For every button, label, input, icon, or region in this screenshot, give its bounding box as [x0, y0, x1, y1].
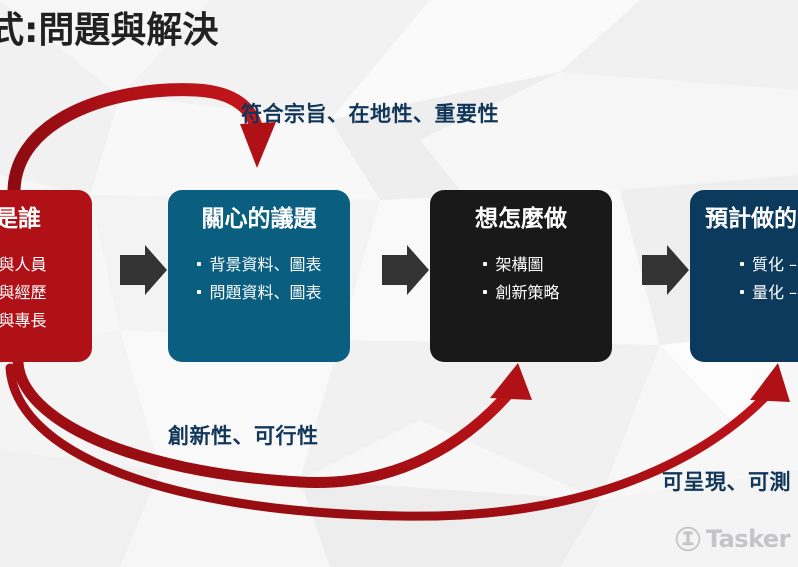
- process-box-bullets: 質化 –無 量化 –有: [739, 248, 798, 309]
- list-item: 創新策略: [482, 281, 559, 304]
- list-item: 問題資料、圖表: [196, 281, 321, 304]
- list-item: 與人員: [0, 253, 47, 276]
- process-box-outcome[interactable]: 預計做的 質化 –無 量化 –有: [690, 190, 798, 362]
- tasker-wordmark: Tasker: [706, 525, 790, 553]
- list-item: 與專長: [0, 309, 47, 332]
- chevron-1-2: [120, 245, 167, 295]
- arc-box1-to-box2: [14, 90, 276, 190]
- annotation-left: 創新性、可行性: [168, 420, 319, 450]
- slide-title: 式:問題與解決: [0, 8, 218, 53]
- process-box-title: 想怎麼做: [475, 206, 567, 234]
- chevron-3-4: [642, 245, 689, 295]
- annotation-top: 符合宗旨、在地性、重要性: [241, 98, 499, 128]
- annotation-right: 可呈現、可測: [662, 466, 791, 496]
- list-item: 與經歷: [0, 281, 47, 304]
- process-box-title: 關心的議題: [202, 206, 317, 234]
- slide-canvas: 式:問題與解決: [0, 0, 798, 567]
- tasker-logo: Tasker: [675, 525, 790, 553]
- process-box-title: 是誰: [0, 206, 41, 234]
- list-item: 背景資料、圖表: [196, 253, 321, 276]
- process-box-bullets: 背景資料、圖表 問題資料、圖表: [196, 248, 321, 309]
- list-item: 架構圖: [482, 253, 559, 276]
- list-item: 量化 –有: [739, 281, 798, 304]
- chevron-2-3: [382, 245, 429, 295]
- process-box-bullets: 架構圖 創新策略: [482, 248, 559, 309]
- process-box-method[interactable]: 想怎麼做 架構圖 創新策略: [430, 190, 612, 362]
- list-item: 質化 –無: [739, 253, 798, 276]
- process-box-topic[interactable]: 關心的議題 背景資料、圖表 問題資料、圖表: [168, 190, 350, 362]
- process-box-who[interactable]: 是誰 與人員 與經歷 與專長: [0, 190, 92, 362]
- process-box-title: 預計做的: [705, 206, 797, 234]
- tasker-circle-icon: [675, 526, 701, 552]
- process-box-bullets: 與人員 與經歷 與專長: [0, 248, 47, 338]
